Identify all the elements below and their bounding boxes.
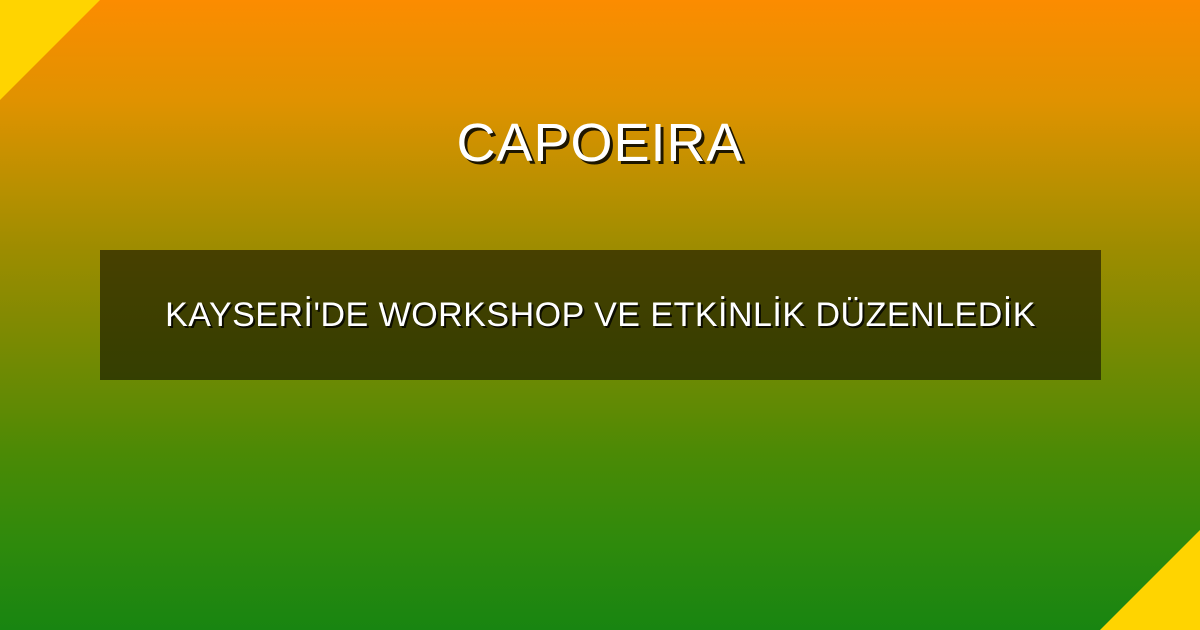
bottom-right-corner-triangle-icon [1100,530,1200,630]
subtitle-text: KAYSERİ'DE WORKSHOP VE ETKİNLİK DÜZENLED… [100,292,1101,339]
top-left-corner-triangle-icon [0,0,100,100]
banner-card: CAPOEIRA KAYSERİ'DE WORKSHOP VE ETKİNLİK… [0,0,1200,630]
headline-title: CAPOEIRA [0,112,1200,174]
subtitle-panel: KAYSERİ'DE WORKSHOP VE ETKİNLİK DÜZENLED… [100,250,1101,380]
